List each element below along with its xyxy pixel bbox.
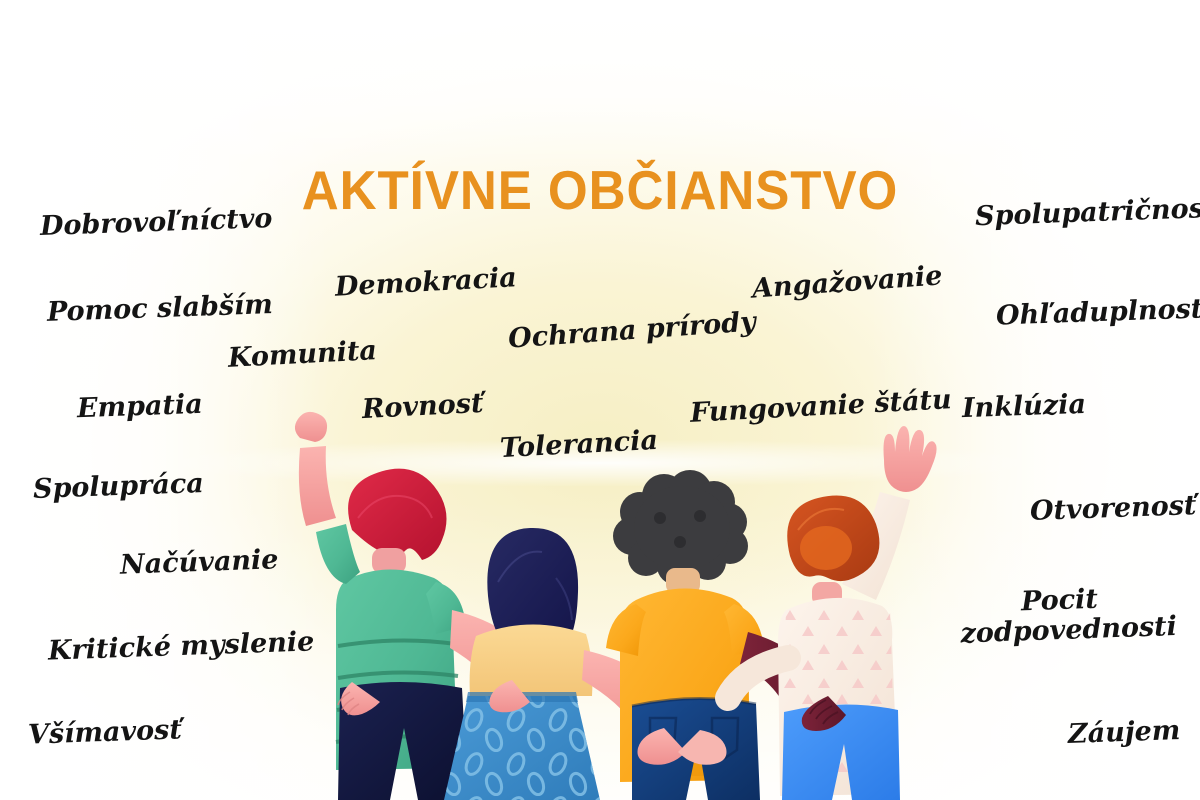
keyword-spolupraca: Spolupráca (33, 469, 205, 505)
keyword-empatia: Empatia (77, 390, 204, 425)
keyword-inkluzia: Inklúzia (962, 390, 1087, 425)
keyword-zaujem: Záujem (1068, 716, 1181, 750)
keyword-pocit-zodpovednosti: Pocit zodpovednosti (959, 583, 1161, 650)
keyword-vsimavost: Všímavosť (28, 715, 183, 751)
person-1-raised-arm (299, 446, 336, 526)
page-title: AKTÍVNE OBČIANSTVO (42, 158, 1158, 222)
keyword-rovnost: Rovnosť (361, 389, 484, 426)
background-fade-top (0, 0, 1200, 170)
poster-canvas: AKTÍVNE OBČIANSTVO DobrovoľníctvoPomoc s… (0, 0, 1200, 800)
waving-hand-icon (884, 426, 937, 492)
person-3-hair (613, 470, 748, 585)
person-2-top (470, 624, 593, 696)
person-1-hair (348, 469, 446, 560)
person-4 (728, 426, 937, 800)
keyword-nacuvanie: Načúvanie (120, 545, 279, 581)
raised-fist-icon (295, 412, 327, 442)
keyword-otvorenost: Otvorenosť (1030, 491, 1197, 527)
